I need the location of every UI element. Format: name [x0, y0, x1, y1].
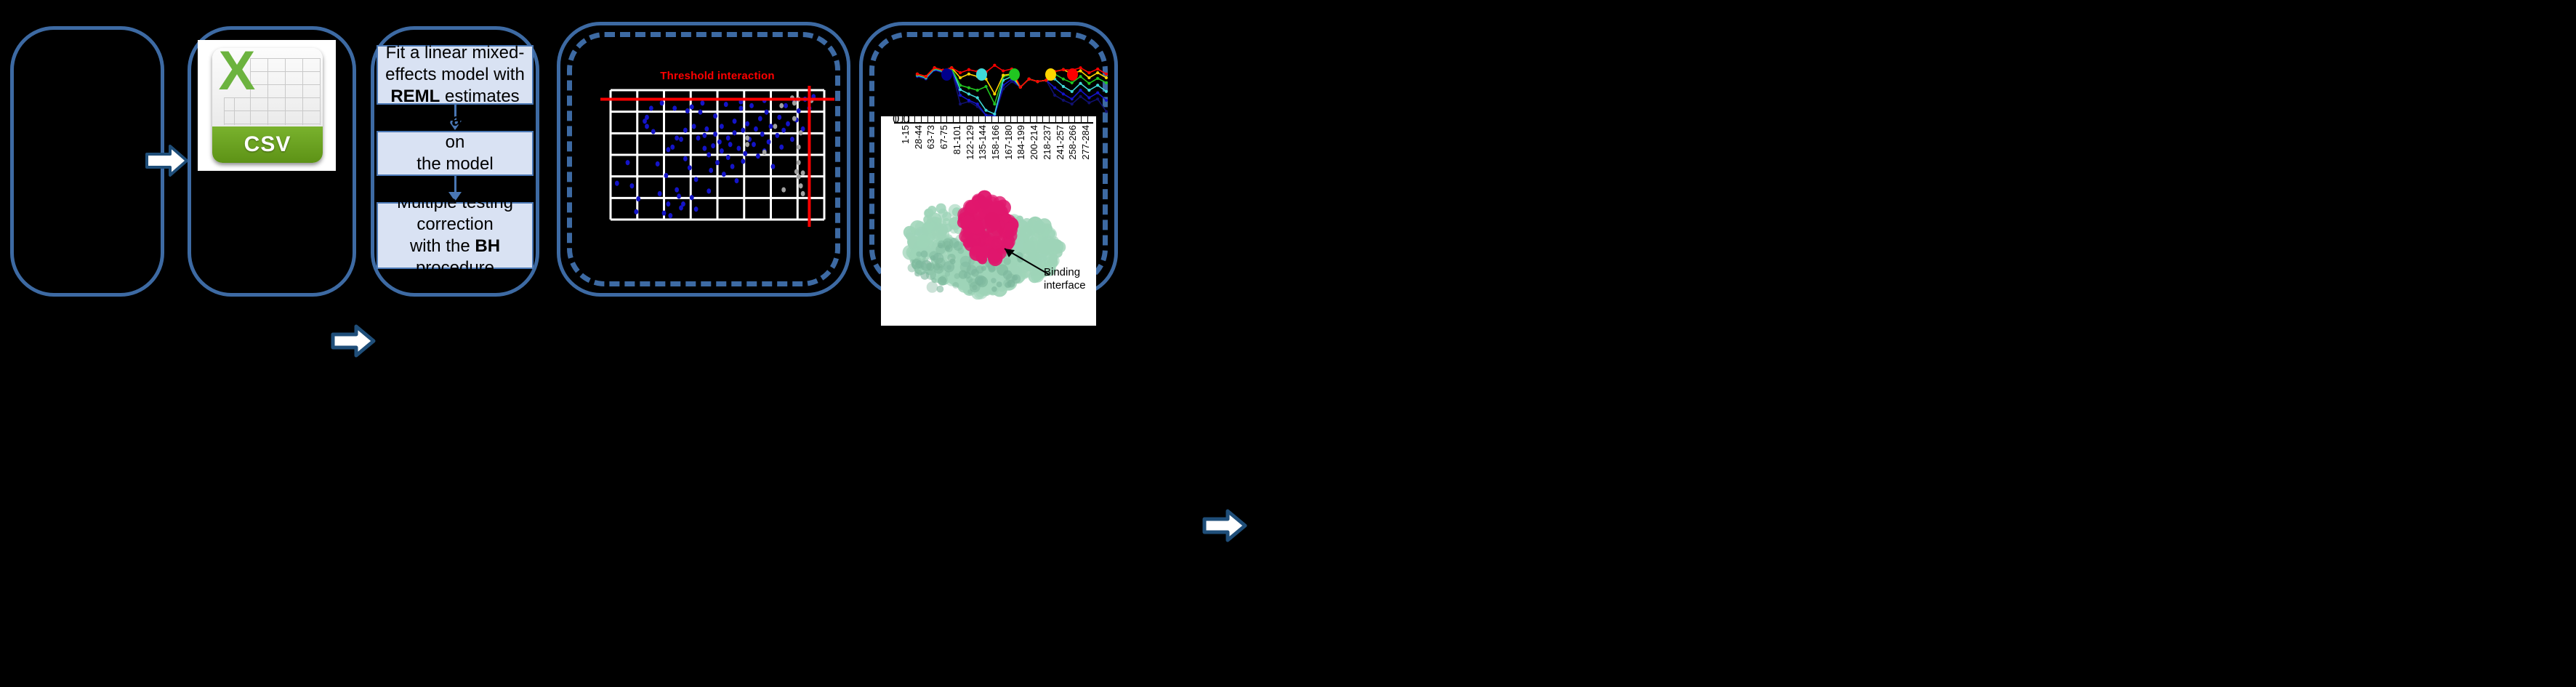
legend-dot-state-1 [941, 68, 952, 81]
x-tick [1010, 116, 1011, 123]
legend-dot-state-2 [976, 68, 987, 81]
x-tick [991, 116, 992, 123]
x-tick [978, 116, 979, 123]
mt-line-3: with the BH procedure [378, 236, 532, 279]
x-tick [1068, 116, 1069, 123]
x-tick [1005, 116, 1005, 123]
arrow-stats-to-results-icon [1203, 509, 1248, 542]
x-tick [1062, 116, 1063, 123]
x-tick [934, 116, 935, 123]
x-tick [1055, 116, 1056, 123]
x-tick-label: 167-180 [1003, 125, 1014, 160]
x-tick [914, 116, 915, 123]
x-tick-label: 1-15 [900, 125, 911, 144]
x-tick [921, 116, 922, 123]
x-tick-label: 258-266 [1067, 125, 1078, 160]
scatter-threshold-interaction-label: Threshold interaction [600, 70, 834, 82]
diagram-canvas: X CSV Fit a linear mixed- effects model … [0, 0, 2576, 687]
x-tick [946, 116, 947, 123]
x-tick-label: 135-144 [977, 125, 988, 160]
fit-model-line-1: Fit a linear mixed- [386, 42, 525, 64]
x-tick [1049, 116, 1050, 123]
x-tick [1017, 116, 1018, 123]
bh-term: BH [475, 236, 500, 256]
x-tick [959, 116, 960, 123]
x-axis-tick-labels: 1-1528-4463-7367-7581-101122-129135-1441… [881, 125, 1096, 173]
x-tick-label: 241-257 [1055, 125, 1066, 160]
csv-x-letter: X [215, 48, 259, 99]
x-tick [895, 116, 896, 123]
x-tick [1023, 116, 1024, 123]
arrow-input-to-csv-icon [331, 324, 377, 358]
x-tick-label: 81-101 [951, 125, 962, 154]
x-tick-label: 218-237 [1042, 125, 1052, 160]
x-tick-label: 158-166 [990, 125, 1001, 160]
x-tick [1037, 116, 1037, 123]
mt-line-2: correction [416, 214, 493, 236]
x-tick [909, 116, 909, 123]
connector-2 [454, 176, 456, 192]
x-tick-label: 184-199 [1015, 125, 1026, 160]
x-tick-label: 122-129 [965, 125, 975, 160]
x-tick [1087, 116, 1088, 123]
panel-input [10, 26, 164, 297]
wald-term: Wald tests [436, 111, 523, 130]
wald-line-1: Apply Wald tests on [378, 110, 532, 153]
volcano-scatter-plot [600, 86, 834, 227]
legend-dot-state-3 [1009, 68, 1020, 81]
x-tick [1074, 116, 1075, 123]
csv-grid-icon: X [212, 48, 323, 126]
x-tick-label: 200-214 [1029, 125, 1039, 160]
binding-interface-label: Binding interface [1044, 266, 1095, 292]
x-tick [1081, 116, 1082, 123]
fit-model-box: Fit a linear mixed- effects model with R… [377, 45, 534, 105]
wald-tests-box: Apply Wald tests on the model parameters [377, 131, 534, 176]
legend-dot-state-4 [1045, 68, 1056, 81]
x-tick-label: 63-73 [925, 125, 936, 149]
x-tick [1030, 116, 1031, 123]
x-tick [902, 116, 903, 123]
multiple-testing-box: Multiple testing correction with the BH … [377, 202, 534, 269]
peptide-plot-legend [900, 68, 1111, 84]
x-tick-label: 67-75 [938, 125, 949, 149]
x-tick [973, 116, 973, 123]
x-tick-label: 277-284 [1080, 125, 1091, 160]
csv-band: CSV [212, 126, 323, 163]
csv-file-icon: X CSV [212, 48, 323, 163]
mt-line-1: Multiple testing [397, 192, 513, 214]
reml-term: REML [390, 87, 440, 106]
protein-surface-structure: Binding interface [881, 173, 1096, 318]
x-tick [1042, 116, 1043, 123]
x-tick [998, 116, 999, 123]
x-tick [927, 116, 928, 123]
x-tick-label: 28-44 [913, 125, 924, 149]
x-tick [985, 116, 986, 123]
legend-dot-state-5 [1067, 68, 1078, 81]
x-tick [966, 116, 967, 123]
arrow-into-input-icon [145, 144, 189, 177]
x-tick [941, 116, 941, 123]
csv-label: CSV [244, 132, 291, 157]
x-axis-ticks [881, 116, 1096, 124]
fit-model-line-2: effects model with [385, 64, 525, 86]
x-tick [953, 116, 954, 123]
